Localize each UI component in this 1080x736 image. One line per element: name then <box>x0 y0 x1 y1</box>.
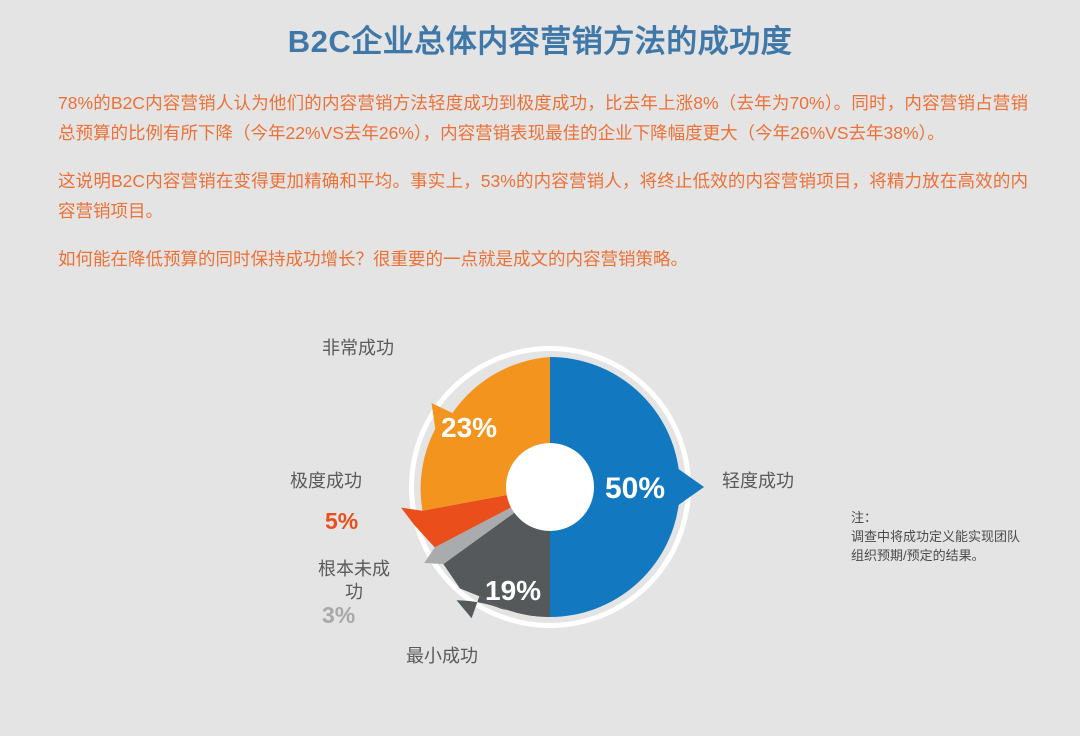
slice-value-extreme: 5% <box>325 508 358 535</box>
slice-value-minimal: 19% <box>485 575 541 606</box>
donut-chart-svg: 50% 19% 23% <box>300 320 780 720</box>
slice-value-mild: 50% <box>605 472 665 505</box>
label-very-success: 非常成功 <box>322 337 394 360</box>
label-minimal-success: 最小成功 <box>406 645 478 668</box>
infographic-page: B2C企业总体内容营销方法的成功度 78%的B2C内容营销人认为他们的内容营销方… <box>0 0 1080 736</box>
label-extreme-success: 极度成功 <box>290 470 362 493</box>
footnote: 注： 调查中将成功定义能实现团队 组织预期/预定的结果。 <box>851 508 1036 565</box>
footnote-line-2: 组织预期/预定的结果。 <box>851 546 1036 565</box>
paragraph-3: 如何能在降低预算的同时保持成功增长？很重要的一点就是成文的内容营销策略。 <box>58 244 1028 274</box>
paragraph-2: 这说明B2C内容营销在变得更加精确和平均。事实上，53%的内容营销人，将终止低效… <box>58 166 1028 226</box>
label-mild-success: 轻度成功 <box>722 470 794 493</box>
donut-chart: 50% 19% 23% <box>300 320 780 720</box>
page-title: B2C企业总体内容营销方法的成功度 <box>0 16 1080 61</box>
slice-value-none: 3% <box>322 602 355 629</box>
body-copy: 78%的B2C内容营销人认为他们的内容营销方法轻度成功到极度成功，比去年上涨8%… <box>58 88 1028 274</box>
paragraph-1: 78%的B2C内容营销人认为他们的内容营销方法轻度成功到极度成功，比去年上涨8%… <box>58 88 1028 148</box>
label-none-success: 根本未成功 <box>310 558 398 604</box>
footnote-line-1: 调查中将成功定义能实现团队 <box>851 527 1036 546</box>
slice-value-very: 23% <box>441 412 497 443</box>
donut-hole <box>506 443 594 531</box>
footnote-head: 注： <box>851 508 1036 527</box>
